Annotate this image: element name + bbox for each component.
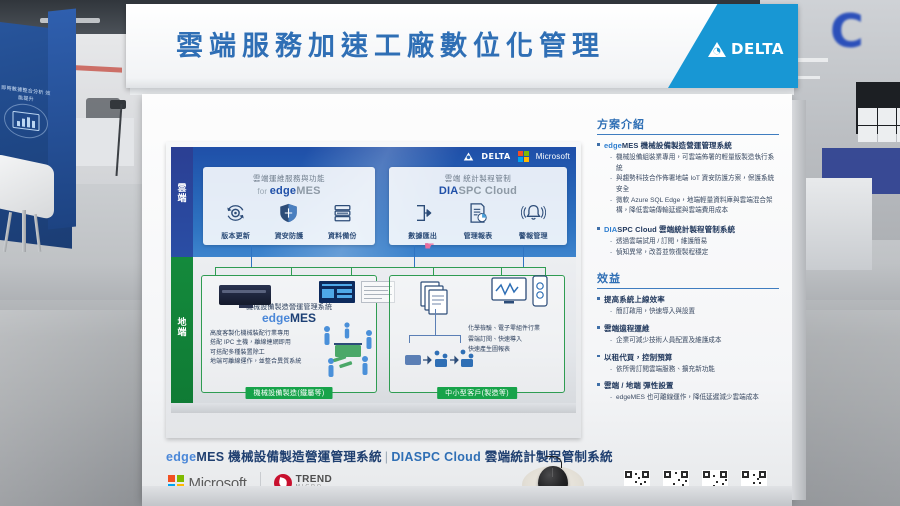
brand-accent: edge [262, 311, 290, 325]
feature-label: 數據匯出 [400, 231, 446, 241]
heading-tail: 雲端統計製程管制系統 [657, 225, 735, 234]
solution-heading: DIASPC Cloud 雲端統計製程管制系統 [597, 224, 779, 235]
hall-signage: C [830, 4, 862, 58]
sub-item: edgeMES 也可離線運作，降低延遲減少雲端成本 [610, 393, 779, 404]
heading-accent: DIA [604, 225, 617, 234]
kiosk-side-panel [792, 100, 806, 500]
caption-accent: edge [166, 450, 196, 464]
bullet: 化學檢驗、電子零組件行業 [468, 324, 540, 335]
list-item: 雲端 / 地端 彈性設置 edgeMES 也可離線運作，降低延遲減少雲端成本 [597, 380, 779, 404]
segment-tag: 機械設備製造(鐵屬等) [246, 387, 333, 399]
feature-label: 版本更新 [213, 231, 259, 241]
benefit-heading: 雲端遠程運維 [597, 323, 779, 334]
kiosk-base [142, 486, 792, 506]
solution-list: edgeMES 機械設備製造營運管理系統 機械設備組裝業專用，可雲端佈署的輕量版… [597, 140, 779, 258]
report-chart-icon [465, 202, 490, 224]
feature-label: 管理報表 [455, 231, 501, 241]
server-stand [239, 305, 253, 308]
brand-rest: MES [290, 311, 316, 325]
sub-item: 依所需訂閱雲端服務、擴充新功能 [610, 365, 779, 376]
cloud-band-label: 雲端 [175, 183, 189, 204]
sub-item: 機械設備組裝業專用，可雲端佈署的輕量版製造執行系統 [610, 153, 779, 174]
cloud-card-diaspc[interactable]: 雲端 統計製程管制 DIASPC Cloud 數據匯出 [389, 167, 567, 245]
heading-tail: 機械設備製造營運管理系統 [638, 141, 731, 150]
caption-separator: | [385, 450, 389, 464]
sub-item: 簡訂啟用，快速導入與設置 [610, 307, 779, 318]
dashboard-thumbnail [319, 281, 355, 303]
list-item: 雲端遠程運維 企業可減少技術人員配置及維護成本 [597, 323, 779, 347]
cloud-feature-security[interactable]: 資安防護 [266, 202, 312, 241]
delta-triangle-icon [707, 41, 727, 58]
cloud-card-title: DIASPC Cloud [389, 185, 567, 197]
feature-label: 資料備份 [319, 231, 365, 241]
heading-rest: MES [622, 141, 639, 150]
list-item: DIASPC Cloud 雲端統計製程管制系統 透過雲端試用 / 訂閱，維護簡易… [597, 224, 779, 258]
monitor-waveform-icon [491, 277, 527, 305]
connector-bus [215, 267, 545, 268]
sub-item: 透過雲端試用 / 訂閱，維護簡易 [610, 237, 779, 248]
benefit-heading: 提高系統上線效率 [597, 294, 779, 305]
caption-rest: MES [196, 450, 224, 464]
benefit-subitems: 依所需訂閱雲端服務、擴充新功能 [610, 365, 779, 376]
microsoft-logo-icon [518, 151, 529, 162]
list-item: 以租代買，控制預算 依所需訂閱雲端服務、擴充新功能 [597, 352, 779, 376]
benefit-subitems: 企業可減少技術人員配置及維護成本 [610, 336, 779, 347]
delta-triangle-icon [463, 152, 474, 161]
sub-item: 微軟 Azure SQL Edge，地端輕量資料庫與雲端混合架構，降低雲端傳輸延… [610, 196, 779, 217]
cloud-card-subtitle: 雲端運維服務與功能 [203, 173, 375, 184]
caption-bar: edgeMES 機械設備製造營運管理系統|DIASPC Cloud 雲端統計製程… [166, 446, 766, 465]
segment-tag: 中小型客戶(製造等) [437, 387, 517, 399]
delta-logo: DELTA [707, 40, 784, 58]
list-item: edgeMES 機械設備製造營運管理系統 機械設備組裝業專用，可雲端佈署的輕量版… [597, 140, 779, 217]
cloud-feature-data-export[interactable]: 數據匯出 [400, 202, 446, 241]
screen-brand-row: DELTA Microsoft [463, 151, 570, 162]
solution-heading: edgeMES 機械設備製造營運管理系統 [597, 140, 779, 151]
process-flow-icon [403, 343, 479, 373]
taskbar[interactable] [171, 403, 576, 413]
shield-icon [276, 202, 301, 224]
screenshot-stage: 即時數據整合分析 效能提升 C 雲端服務加速工廠數位化管理 [0, 0, 900, 506]
section-title-solution: 方案介紹 [597, 116, 779, 135]
title-prefix: for [257, 187, 269, 196]
export-icon [410, 202, 435, 224]
server-photo [219, 285, 271, 305]
bar-stool [0, 160, 68, 250]
background-product-grid [858, 108, 900, 142]
info-panel: 方案介紹 edgeMES 機械設備製造營運管理系統 機械設備組裝業專用，可雲端佈… [597, 116, 779, 409]
connector-line [523, 245, 524, 267]
cloud-feature-backup[interactable]: 資料備份 [319, 202, 365, 241]
benefit-heading: 以租代買，控制預算 [597, 352, 779, 363]
solution-subitems: 透過雲端試用 / 訂閱，維護簡易 偵知異常，改善並恢復製程穩定 [610, 237, 779, 258]
refresh-gear-icon [223, 202, 248, 224]
microsoft-wordmark: Microsoft [536, 152, 570, 161]
heading-rest: SPC Cloud [617, 225, 657, 234]
sub-item: 企業可減少技術人員配置及維護成本 [610, 336, 779, 347]
benefits-list: 提高系統上線效率 簡訂啟用，快速導入與設置 雲端遠程運維 企業可減少技術人員配置… [597, 294, 779, 404]
title-rest: SPC Cloud [458, 185, 517, 197]
header-board: 雲端服務加速工廠數位化管理 DELTA [126, 4, 798, 88]
caption-tail: 機械設備製造營運管理系統 [224, 450, 381, 464]
delta-wordmark: DELTA [731, 40, 784, 58]
mobile-device-icon [531, 275, 549, 307]
benefit-heading: 雲端 / 地端 彈性設置 [597, 380, 779, 391]
title-accent: DIA [439, 185, 459, 197]
delta-wordmark: DELTA [481, 152, 510, 161]
database-icon [330, 202, 355, 224]
factory-illustration [321, 319, 375, 381]
kiosk: 雲端服務加速工廠數位化管理 DELTA 雲端 [122, 0, 804, 506]
benefit-subitems: 簡訂啟用，快速導入與設置 [610, 307, 779, 318]
kiosk-monitor: 雲端 地端 DELTA Microsoft 雲端運維服務 [166, 142, 581, 438]
content-board: 雲端 地端 DELTA Microsoft 雲端運維服務 [142, 94, 792, 500]
caption-right-brand: DIASPC Cloud [391, 450, 481, 464]
connector-line [251, 245, 252, 267]
page-title: 雲端服務加速工廠數位化管理 [176, 24, 605, 63]
cloud-feature-version-update[interactable]: 版本更新 [213, 202, 259, 241]
bell-alert-icon [521, 202, 546, 224]
sub-item: 偵知異常，改善並恢復製程穩定 [610, 248, 779, 259]
cloud-card-title: for edgeMES [203, 185, 375, 197]
solution-subitems: 機械設備組裝業專用，可雲端佈署的輕量版製造執行系統 與趨勢科技合作佈署地端 Io… [610, 153, 779, 217]
title-accent: edge [270, 185, 296, 197]
monitor-screen[interactable]: 雲端 地端 DELTA Microsoft 雲端運維服務 [171, 147, 576, 413]
sub-item: 與趨勢科技合作佈署地端 IoT 資安防護方案，保護系統安全 [610, 174, 779, 195]
list-item: 提高系統上線效率 簡訂啟用，快速導入與設置 [597, 294, 779, 318]
title-rest: MES [296, 185, 320, 197]
local-band-label: 地端 [175, 317, 189, 338]
pointer-hand-icon: ☛ [424, 239, 435, 253]
heading-accent: edge [604, 141, 622, 150]
connector-line [414, 245, 415, 267]
cloud-card-subtitle: 雲端 統計製程管制 [389, 173, 567, 184]
section-title-benefits: 效益 [597, 270, 779, 289]
cloud-feature-report[interactable]: 管理報表 [455, 202, 501, 241]
cloud-card-edgemes[interactable]: 雲端運維服務與功能 for edgeMES [203, 167, 375, 245]
feature-label: 警報管理 [510, 231, 556, 241]
feature-label: 資安防護 [266, 231, 312, 241]
benefit-subitems: edgeMES 也可離線運作，降低延遲減少雲端成本 [610, 393, 779, 404]
cloud-feature-alert[interactable]: 警報管理 [510, 202, 556, 241]
